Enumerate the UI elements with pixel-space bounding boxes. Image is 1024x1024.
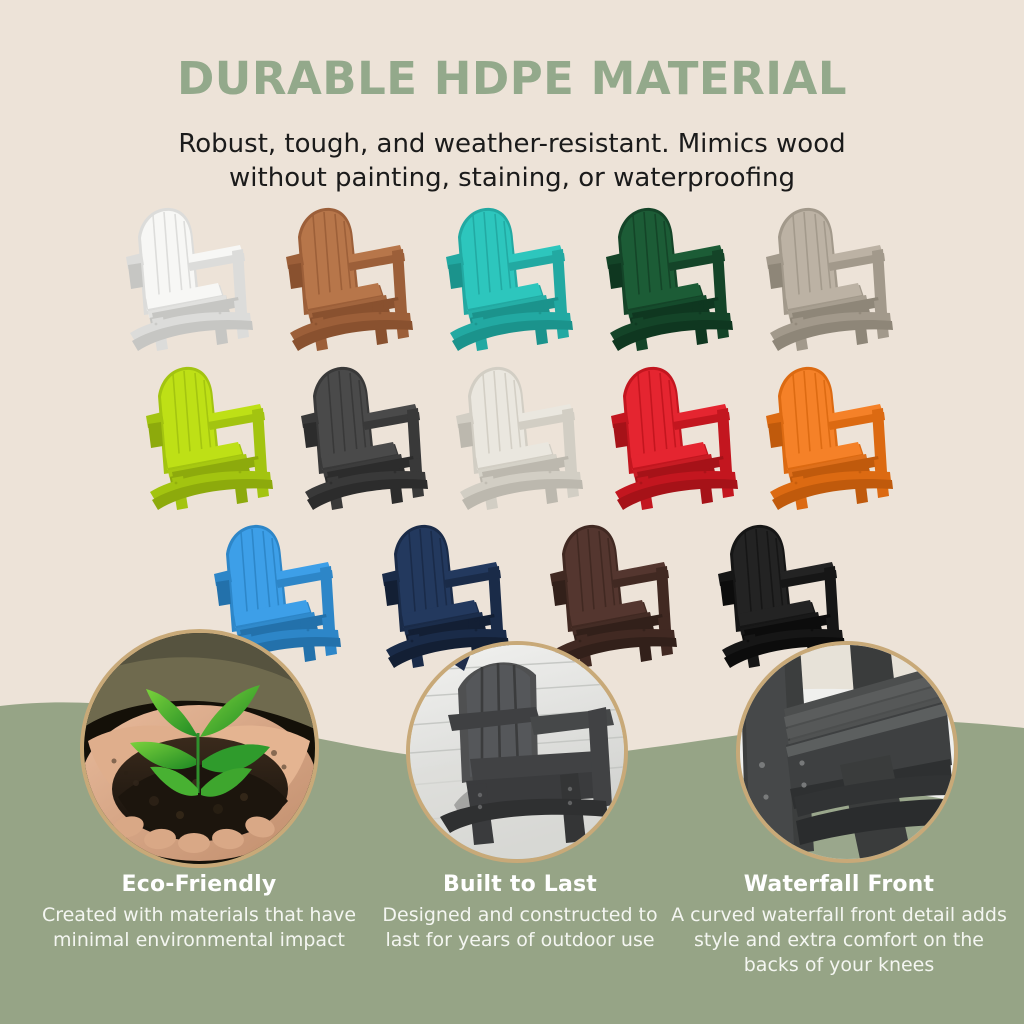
feature-desc-line-2: last for years of outdoor use bbox=[370, 928, 670, 953]
feature-title: Waterfall Front bbox=[664, 872, 1014, 897]
chair-color-grid bbox=[0, 0, 1024, 1024]
waterfall-front-seat-edge-closeup-photo bbox=[740, 645, 954, 859]
feature-title: Built to Last bbox=[370, 872, 670, 897]
chair-swatch-dark-green[interactable] bbox=[588, 203, 738, 353]
chair-swatch-dark-gray[interactable] bbox=[283, 362, 433, 512]
chair-swatch-ivory-white[interactable] bbox=[438, 362, 588, 512]
feature-desc-line-1: Designed and constructed to bbox=[370, 903, 670, 928]
infographic-canvas: DURABLE HDPE MATERIAL Robust, tough, and… bbox=[0, 0, 1024, 1024]
gray-rocking-chair-on-deck-photo bbox=[410, 645, 624, 859]
chair-swatch-white[interactable] bbox=[108, 203, 258, 353]
chair-graphic bbox=[268, 203, 418, 353]
feature-desc-line-2: style and extra comfort on the bbox=[664, 928, 1014, 953]
chair-swatch-lime-green[interactable] bbox=[128, 362, 278, 512]
feature-eco-friendly: Eco-Friendly Created with materials that… bbox=[24, 872, 374, 953]
chair-swatch-teak-brown[interactable] bbox=[268, 203, 418, 353]
hands-holding-seedling-photo bbox=[84, 633, 315, 864]
chair-graphic bbox=[748, 203, 898, 353]
feature-title: Eco-Friendly bbox=[24, 872, 374, 897]
chair-swatch-orange[interactable] bbox=[748, 362, 898, 512]
chair-swatch-turquoise[interactable] bbox=[428, 203, 578, 353]
chair-graphic bbox=[438, 362, 588, 512]
feature-desc-line-1: A curved waterfall front detail adds bbox=[664, 903, 1014, 928]
chair-graphic bbox=[283, 362, 433, 512]
feature-image-built-to-last bbox=[406, 641, 628, 863]
feature-image-eco-friendly bbox=[80, 629, 319, 868]
chair-graphic bbox=[593, 362, 743, 512]
feature-image-waterfall-front bbox=[736, 641, 958, 863]
feature-built-to-last: Built to Last Designed and constructed t… bbox=[370, 872, 670, 953]
chair-graphic bbox=[748, 362, 898, 512]
feature-desc-line-2: minimal environmental impact bbox=[24, 928, 374, 953]
chair-graphic bbox=[588, 203, 738, 353]
chair-swatch-taupe[interactable] bbox=[748, 203, 898, 353]
feature-waterfall-front: Waterfall Front A curved waterfall front… bbox=[664, 872, 1014, 978]
chair-graphic bbox=[428, 203, 578, 353]
chair-swatch-red[interactable] bbox=[593, 362, 743, 512]
chair-graphic bbox=[108, 203, 258, 353]
feature-desc-line-1: Created with materials that have bbox=[24, 903, 374, 928]
chair-graphic bbox=[128, 362, 278, 512]
feature-desc-line-3: backs of your knees bbox=[664, 953, 1014, 978]
